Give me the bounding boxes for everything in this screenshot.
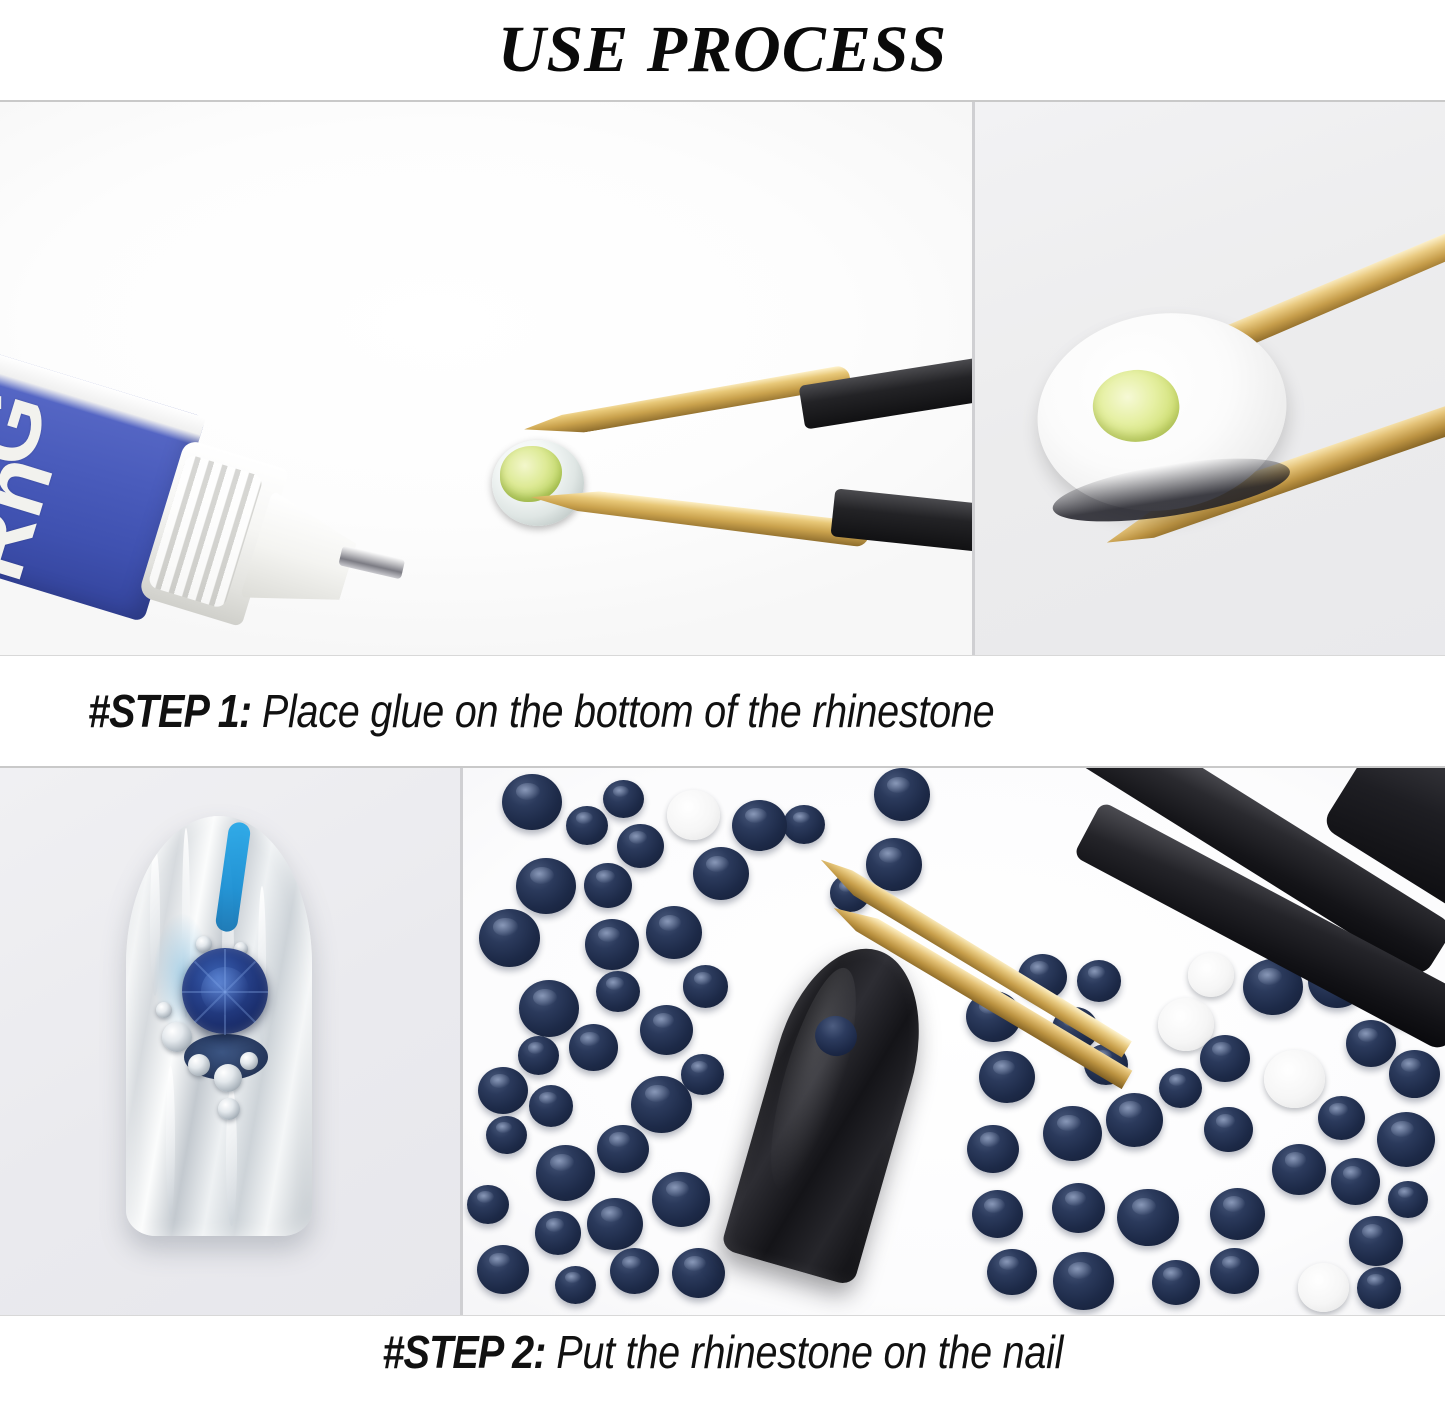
rhinestone bbox=[555, 1266, 596, 1305]
silver-bead bbox=[156, 1002, 172, 1018]
silver-bead bbox=[214, 1064, 242, 1092]
rhinestone bbox=[1389, 1050, 1440, 1098]
page-header: USE PROCESS bbox=[0, 0, 1445, 100]
step-1-caption: #STEP 1: Place glue on the bottom of the… bbox=[0, 656, 1445, 766]
rhinestone-flat-back bbox=[667, 790, 720, 840]
rhinestone bbox=[1117, 1189, 1178, 1247]
rhinestone bbox=[972, 1190, 1023, 1238]
rhinestone-flat-back bbox=[1188, 953, 1235, 997]
silver-nail bbox=[126, 816, 312, 1236]
panel-finished-nail bbox=[0, 768, 460, 1315]
rhinestone bbox=[646, 906, 702, 959]
tweezer-lower-gold-tip bbox=[529, 484, 870, 547]
rhinestone bbox=[467, 1185, 509, 1225]
rhinestone bbox=[536, 1145, 595, 1201]
rhinestone bbox=[1077, 960, 1122, 1002]
applicator-tip-icon bbox=[338, 545, 405, 579]
rhinestone bbox=[535, 1211, 582, 1255]
rhinestone bbox=[1210, 1248, 1259, 1294]
page-title: USE PROCESS bbox=[498, 17, 947, 83]
silver-bead bbox=[162, 1022, 192, 1052]
silver-bead bbox=[218, 1098, 240, 1120]
rhinestone bbox=[1204, 1107, 1253, 1153]
rhinestone bbox=[1106, 1093, 1163, 1147]
blue-stripe bbox=[214, 821, 251, 933]
rhinestone bbox=[610, 1248, 659, 1294]
rhinestone bbox=[584, 863, 632, 908]
rhinestone bbox=[672, 1248, 725, 1298]
rhinestone bbox=[979, 1051, 1035, 1103]
rhinestone bbox=[1043, 1106, 1101, 1161]
step-1-label: #STEP 1: bbox=[88, 685, 251, 737]
rhinestone bbox=[569, 1024, 619, 1071]
step-2-image-row bbox=[0, 766, 1445, 1316]
rhinestone bbox=[596, 971, 640, 1013]
rhinestone bbox=[1388, 1181, 1428, 1219]
rhinestone bbox=[585, 919, 639, 970]
rhinestone bbox=[1152, 1260, 1200, 1306]
tweezer-lower-black-arm bbox=[830, 488, 972, 571]
rhinestone bbox=[597, 1125, 649, 1174]
rhinestone bbox=[693, 847, 750, 900]
rhinestone bbox=[866, 838, 922, 891]
rhinestone bbox=[518, 1036, 559, 1074]
rhinestone bbox=[516, 858, 576, 914]
rhinestone bbox=[477, 1245, 529, 1294]
rhinestone bbox=[1318, 1096, 1365, 1140]
rhinestone bbox=[874, 768, 931, 821]
rhinestone bbox=[967, 1125, 1018, 1173]
step-1-text: Place glue on the bottom of the rhinesto… bbox=[262, 685, 995, 737]
rhinestone bbox=[478, 1067, 528, 1114]
rhinestone bbox=[1052, 1183, 1105, 1233]
rhinestone bbox=[486, 1116, 527, 1154]
navy-gem bbox=[182, 948, 268, 1034]
rhinestone bbox=[1053, 1252, 1114, 1310]
rhinestone bbox=[502, 774, 562, 830]
step-2-text: Put the rhinestone on the nail bbox=[556, 1326, 1063, 1378]
panel-stone-back-closeup bbox=[975, 102, 1445, 655]
rhinestone-flat-back bbox=[1264, 1050, 1326, 1108]
rhinestone bbox=[603, 780, 644, 819]
rhinestone bbox=[987, 1249, 1036, 1295]
rhinestone bbox=[617, 824, 664, 868]
glue-bottle: G Rh bbox=[0, 338, 423, 655]
rhinestone bbox=[640, 1005, 693, 1055]
bottle-letter-rh: Rh bbox=[0, 446, 68, 590]
rhinestone bbox=[681, 1054, 724, 1095]
silver-bead bbox=[240, 1052, 258, 1070]
rhinestone bbox=[1331, 1158, 1380, 1204]
panel-placing-rhinestone bbox=[463, 768, 1445, 1315]
rhinestone bbox=[566, 806, 608, 845]
rhinestone bbox=[652, 1172, 710, 1226]
rhinestone bbox=[519, 980, 579, 1036]
rhinestone bbox=[529, 1085, 573, 1127]
tweezer-upper-black-arm bbox=[799, 334, 972, 429]
nail-streak bbox=[166, 1066, 175, 1216]
step-2-label: #STEP 2: bbox=[382, 1326, 545, 1378]
rhinestone bbox=[479, 909, 540, 967]
step-1-image-row: G Rh bbox=[0, 100, 1445, 656]
silver-bead bbox=[188, 1054, 210, 1076]
rhinestone bbox=[631, 1076, 692, 1133]
rhinestone bbox=[1349, 1216, 1402, 1266]
rhinestone bbox=[1159, 1068, 1202, 1109]
rhinestone bbox=[1210, 1188, 1265, 1240]
step-2-caption: #STEP 2: Put the rhinestone on the nail bbox=[0, 1316, 1445, 1388]
rhinestone bbox=[1357, 1267, 1401, 1309]
rhinestone bbox=[783, 805, 824, 844]
rhinestone bbox=[1200, 1035, 1250, 1082]
rhinestone bbox=[683, 965, 728, 1007]
rhinestone bbox=[732, 800, 787, 852]
rhinestone bbox=[1346, 1020, 1396, 1067]
panel-glue-applying: G Rh bbox=[0, 102, 972, 655]
rhinestone bbox=[1377, 1112, 1436, 1167]
rhinestone bbox=[1272, 1144, 1326, 1195]
rhinestone bbox=[587, 1198, 643, 1251]
rhinestone-flat-back bbox=[1298, 1263, 1349, 1311]
black-nail-tip bbox=[720, 931, 944, 1286]
